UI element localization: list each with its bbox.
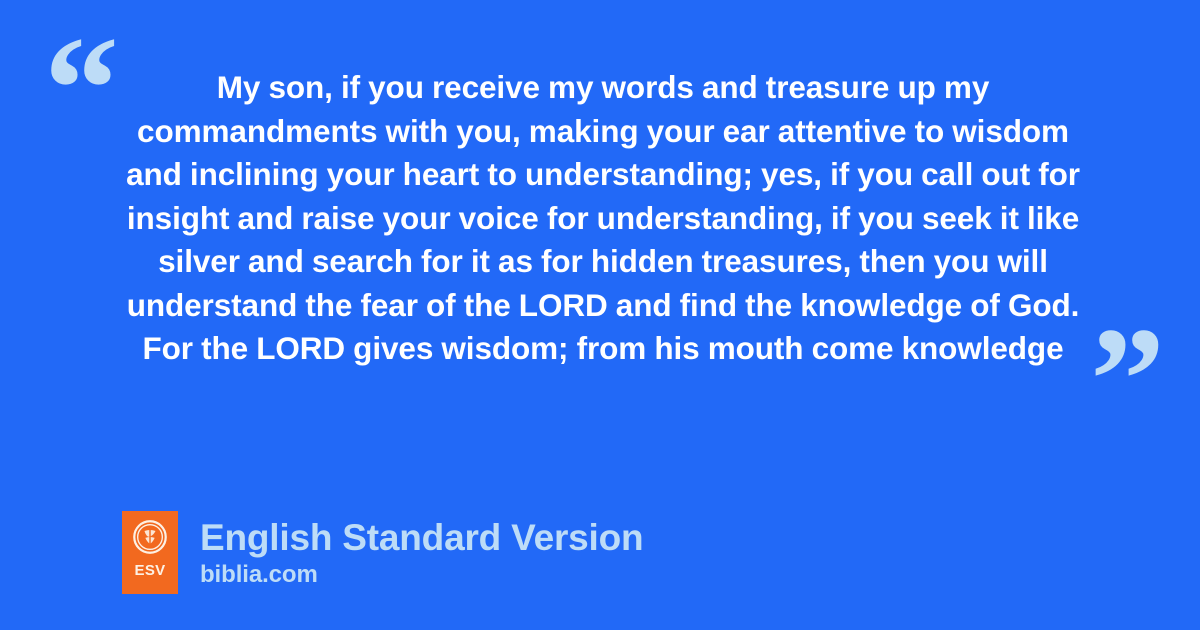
brand-url[interactable]: biblia.com (200, 561, 643, 588)
closing-quote-icon: ” (1090, 305, 1165, 455)
verse-card: “ My son, if you receive my words and tr… (0, 0, 1200, 630)
esv-logo-abbr: ESV (135, 563, 166, 578)
brand-title: English Standard Version (200, 517, 643, 559)
verse-container: My son, if you receive my words and trea… (126, 66, 1080, 371)
opening-quote-icon: “ (44, 14, 119, 164)
verse-text: My son, if you receive my words and trea… (126, 66, 1080, 371)
brand-text: English Standard Version biblia.com (200, 517, 643, 588)
esv-seal-icon (133, 520, 167, 554)
brand-footer[interactable]: ESV English Standard Version biblia.com (122, 511, 643, 594)
esv-logo[interactable]: ESV (122, 511, 178, 594)
